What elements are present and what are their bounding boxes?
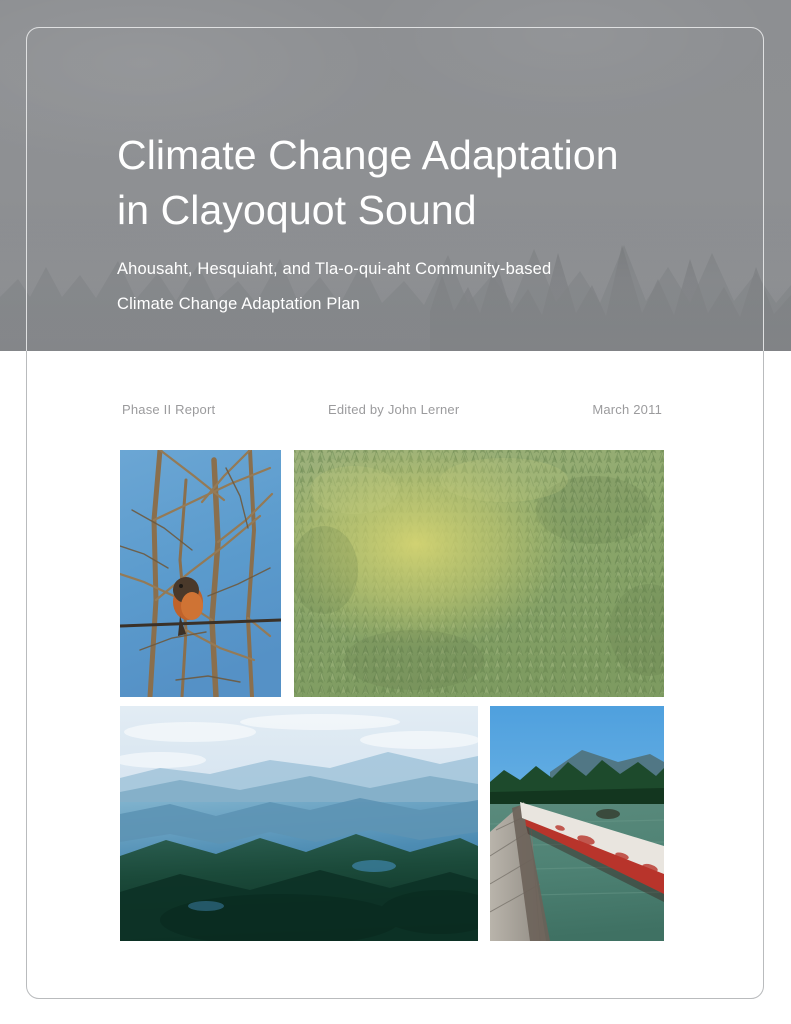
publication-date: March 2011: [578, 400, 662, 419]
document-title-line-2: in Clayoquot Sound: [117, 183, 717, 238]
document-subtitle-line-2: Climate Change Adaptation Plan: [117, 287, 737, 322]
clayoquot-sound-inlet-aerial-image: [120, 706, 478, 941]
robin-in-bare-branches-image: [120, 450, 281, 697]
page-title: Climate Change Adaptation in Clayoquot S…: [117, 128, 717, 238]
document-metadata-row: Phase II Report Edited by John Lerner Ma…: [122, 400, 662, 419]
dock-railing-over-water-image: [490, 706, 664, 941]
document-subtitle: Ahousaht, Hesquiaht, and Tla-o-qui-aht C…: [117, 252, 737, 322]
document-title-line-1: Climate Change Adaptation: [117, 128, 717, 183]
document-cover-page: Climate Change Adaptation in Clayoquot S…: [0, 0, 791, 1024]
report-phase-label: Phase II Report: [122, 400, 328, 419]
document-subtitle-line-1: Ahousaht, Hesquiaht, and Tla-o-qui-aht C…: [117, 252, 737, 287]
editor-label: Edited by John Lerner: [328, 400, 578, 419]
conifer-forest-canopy-image: [294, 450, 664, 697]
